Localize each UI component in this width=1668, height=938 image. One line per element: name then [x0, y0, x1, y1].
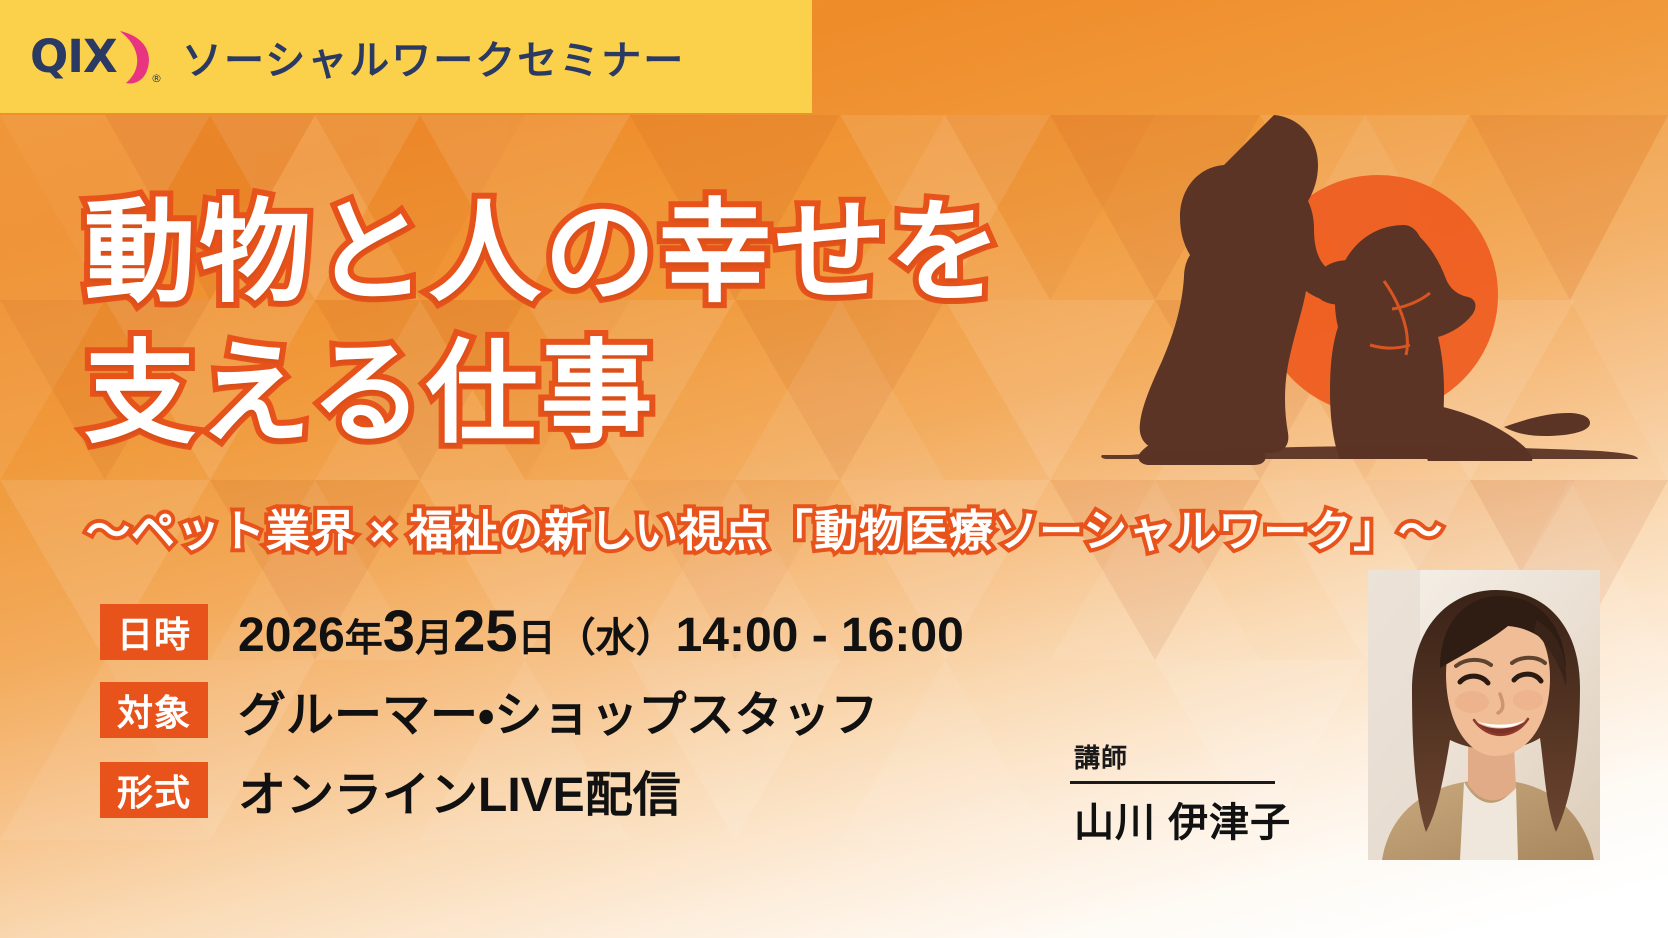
- date-day-unit: 日: [518, 618, 556, 660]
- info-value-datetime: 2026年3月25日（水）14:00 - 16:00: [238, 598, 964, 665]
- logo-wordmark: QIX: [30, 30, 117, 83]
- dog-and-person-silhouette-illustration: [1048, 105, 1668, 465]
- info-badge-datetime: 日時: [100, 604, 208, 660]
- subtitle: 〜ペット業界 × 福祉の新しい視点「動物医療ソーシャルワーク」〜: [86, 495, 1443, 559]
- info-value-audience: グルーマー・ショップスタッフ: [238, 675, 878, 745]
- info-row-audience: 対象 グルーマー・ショップスタッフ: [100, 675, 964, 745]
- instructor-divider: [1070, 781, 1275, 784]
- info-row-format: 形式 オンラインLIVE配信: [100, 755, 964, 825]
- info-row-datetime: 日時 2026年3月25日（水）14:00 - 16:00: [100, 598, 964, 665]
- header-title: ソーシャルワークセミナー: [182, 28, 685, 86]
- instructor-label: 講師: [1070, 738, 1285, 775]
- title-line-2: 支える仕事: [84, 323, 1004, 464]
- main-title: 動物と人の幸せを 支える仕事: [84, 182, 1004, 464]
- header-bar: QIX ® ソーシャルワークセミナー: [0, 0, 812, 113]
- title-line-1: 動物と人の幸せを: [84, 182, 1004, 323]
- date-weekday: （水）: [556, 616, 676, 660]
- info-badge-format: 形式: [100, 762, 208, 818]
- seminar-banner: QIX ® ソーシャルワークセミナー 動物と人の幸せを 支える仕事 〜ペット業界…: [0, 0, 1668, 938]
- info-value-format: オンラインLIVE配信: [238, 755, 681, 825]
- instructor-block: 講師 山川 伊津子: [1070, 738, 1285, 848]
- instructor-portrait-photo: [1368, 570, 1600, 860]
- date-month: 3: [383, 599, 415, 664]
- registered-trademark-icon: ®: [151, 72, 162, 85]
- date-month-unit: 月: [415, 618, 453, 660]
- event-time-range: 14:00 - 16:00: [676, 609, 964, 662]
- date-year-unit: 年: [345, 618, 383, 660]
- date-year: 2026: [238, 609, 345, 662]
- instructor-name: 山川 伊津子: [1070, 790, 1285, 848]
- event-info-list: 日時 2026年3月25日（水）14:00 - 16:00 対象 グルーマー・シ…: [100, 598, 964, 835]
- info-badge-audience: 対象: [100, 682, 208, 738]
- qix-logo: QIX ®: [30, 27, 158, 87]
- date-day: 25: [453, 599, 518, 664]
